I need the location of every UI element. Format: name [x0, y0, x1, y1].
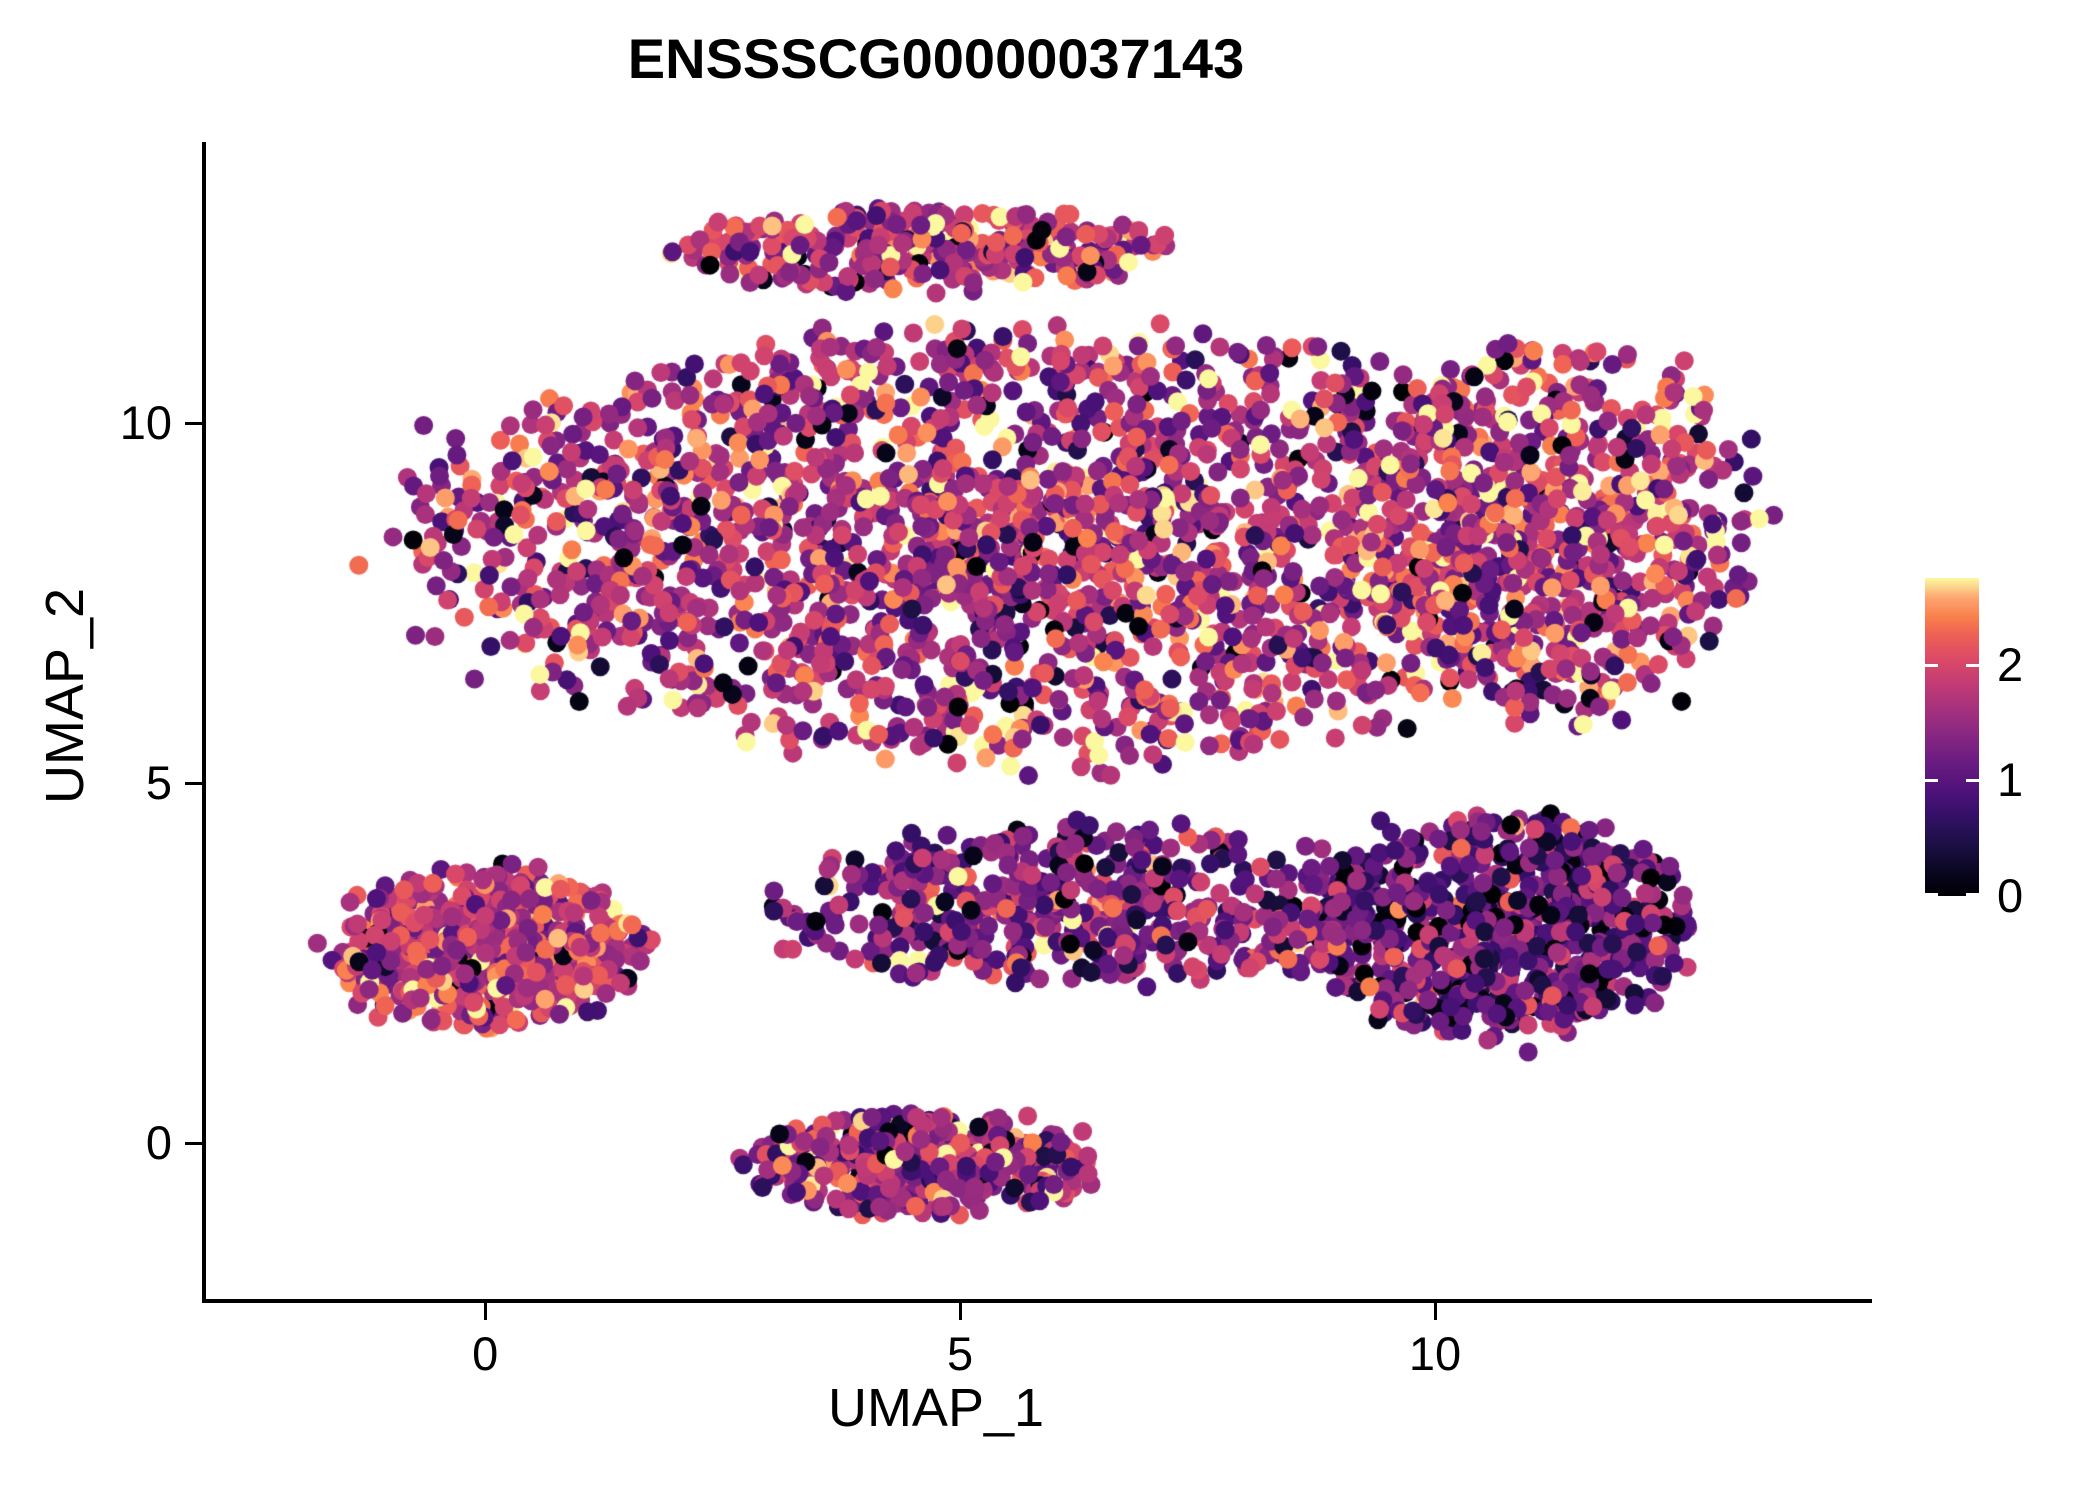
colorbar-tick-label: 1 — [1997, 752, 2023, 808]
y-axis-line — [202, 142, 206, 1303]
colorbar-tick-mark — [1925, 664, 1938, 667]
x-tick-label: 10 — [1355, 1326, 1515, 1382]
y-tick-mark — [185, 422, 202, 425]
colorbar-tick-mark — [1925, 779, 1938, 782]
page-title: ENSSSCG00000037143 — [0, 26, 1872, 92]
umap-feature-plot: ENSSSCG00000037143 0510 0510 UMAP_1 UMAP… — [0, 0, 2100, 1500]
colorbar-tick-label: 2 — [1997, 637, 2023, 693]
colorbar-tick-mark — [1925, 893, 1938, 896]
x-tick-mark — [484, 1303, 487, 1320]
x-axis-title: UMAP_1 — [0, 1376, 1872, 1440]
y-axis-title: UMAP_2 — [33, 376, 97, 1016]
y-tick-label: 0 — [0, 1115, 172, 1171]
colorbar-legend: 012 — [1925, 578, 2075, 898]
colorbar-tick-mark — [1966, 893, 1979, 896]
x-tick-label: 0 — [405, 1326, 565, 1382]
colorbar-tick-mark — [1966, 779, 1979, 782]
x-tick-mark — [1434, 1303, 1437, 1320]
x-tick-mark — [959, 1303, 962, 1320]
colorbar-gradient — [1925, 578, 1979, 896]
scatter-points-layer — [205, 142, 1872, 1301]
y-tick-mark — [185, 1142, 202, 1145]
x-tick-label: 5 — [880, 1326, 1040, 1382]
y-tick-mark — [185, 782, 202, 785]
colorbar-tick-label: 0 — [1997, 868, 2023, 924]
x-axis-line — [205, 1299, 1872, 1303]
plot-panel — [205, 142, 1872, 1301]
colorbar-tick-mark — [1966, 664, 1979, 667]
